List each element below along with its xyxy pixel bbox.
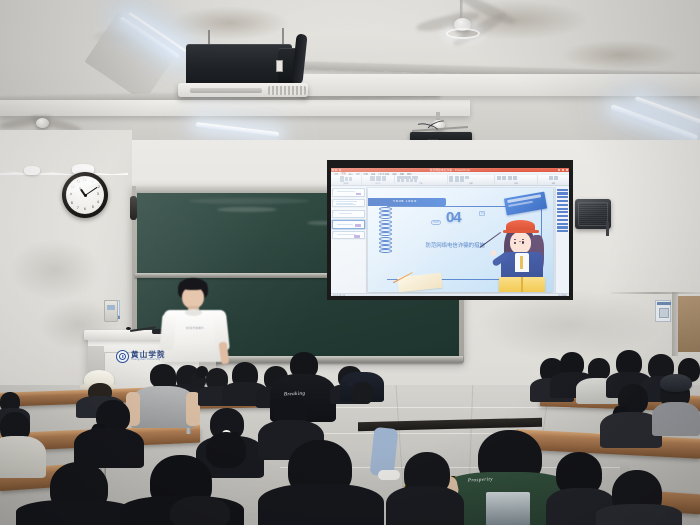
slide-thumbnail[interactable]: 3 — [332, 210, 364, 219]
slide-thumbnail-number: 2 — [333, 202, 334, 203]
audience-head — [206, 432, 246, 468]
ceiling-fan-right — [420, 0, 550, 60]
slide-thumbnail-number: 4 — [333, 223, 334, 224]
ribbon-caption-font: 字体 — [397, 183, 445, 185]
presenter-shirt-text: VICTORY — [174, 326, 216, 330]
ribbon-group-clipboard[interactable]: 剪贴板 — [331, 175, 362, 185]
fluorescent-tube-light-right — [610, 104, 699, 141]
wall-clock: 12 3 6 9 1 2 4 5 7 8 10 11 — [62, 172, 108, 218]
character-tie — [520, 256, 523, 269]
audience-head-grey-tank — [150, 364, 176, 388]
wall-outlet-box — [104, 300, 118, 322]
slide-section-number: 04 — [446, 209, 461, 226]
ribbon-group-font[interactable]: 字体 — [395, 175, 447, 185]
slide-thumbnail-number: 5 — [333, 234, 334, 235]
audience-tee-photo-print — [486, 492, 530, 525]
ribbon-group-slides[interactable]: 幻灯片 — [362, 175, 395, 185]
ribbon-group-paragraph[interactable]: 段落 — [448, 175, 496, 185]
audience-shoulders — [596, 504, 682, 525]
ribbon-caption-clipboard: 剪贴板 — [333, 183, 360, 185]
slide-thumbnail-number: 1 — [333, 191, 334, 192]
slide-part-badge: PART — [431, 220, 441, 225]
maximize-icon[interactable] — [562, 169, 564, 171]
slide-thumbnail[interactable]: 2 — [332, 199, 364, 208]
ac-duct-pipe — [291, 34, 307, 85]
character-open-book — [499, 277, 546, 292]
ppt-slide-stage[interactable]: YOUR LOGO PART 04 04 防范网络电信诈骗的措施 — [367, 187, 555, 293]
ceiling-ac-cassette — [178, 38, 313, 110]
character-eye-right — [522, 241, 524, 244]
classroom-photo: SONY 12 3 6 9 1 2 4 5 7 8 10 — [0, 0, 700, 525]
slide-logo-text: YOUR LOGO — [393, 200, 417, 203]
character-mouth — [519, 241, 522, 242]
ppt-quick-access-toolbar[interactable] — [332, 169, 341, 171]
audience-head — [352, 382, 374, 404]
slide-spiral-binding — [379, 202, 392, 279]
ribbon-caption-paragraph: 段落 — [449, 183, 492, 185]
audience-navy-tee-print: · — [350, 382, 351, 386]
ppt-ribbon[interactable]: 剪贴板 幻灯片 字体 — [331, 175, 569, 186]
projection-screen: 防范网络电信诈骗 - PowerPoint 文件 开始 插入 设计 切换 动画 … — [331, 168, 569, 296]
audience-light-shirt — [0, 436, 46, 478]
ppt-status-left: 幻灯片 第 4 张 — [333, 294, 345, 297]
audience-head — [588, 358, 610, 380]
slide-thumbnail[interactable]: 1 — [332, 188, 364, 197]
fluorescent-tube-light-mid — [195, 122, 279, 137]
slide-thumbnail[interactable]: 5 — [332, 231, 364, 240]
wall-outlet-label — [107, 305, 115, 310]
slide-teacher-illustration — [494, 217, 550, 292]
current-slide[interactable]: YOUR LOGO PART 04 04 防范网络电信诈骗的措施 — [368, 188, 553, 292]
ribbon-caption-editing: 编辑 — [540, 183, 568, 185]
minimize-icon[interactable] — [558, 169, 560, 171]
slide-section-number-superscript: 04 — [479, 211, 485, 216]
presenter: VICTORY — [160, 278, 240, 368]
slide-thumbnail-number: 3 — [333, 213, 334, 214]
undo-icon[interactable] — [335, 169, 337, 171]
fan-light-ring — [446, 28, 480, 39]
audience-shoulders — [16, 500, 136, 525]
ppt-window-buttons[interactable] — [558, 169, 568, 171]
audience-shoulders — [386, 486, 464, 525]
character-face — [510, 232, 531, 254]
ppt-right-pane[interactable] — [555, 187, 569, 293]
audience-shoulders — [652, 402, 700, 436]
ribbon-caption-slides: 幻灯片 — [364, 183, 393, 185]
wall-notice-right — [655, 300, 671, 322]
ppt-status-bar: 幻灯片 第 4 张 中文(简体) — [331, 293, 569, 296]
ppt-status-right: 中文(简体) — [558, 294, 567, 297]
close-icon[interactable] — [566, 169, 568, 171]
podium-university-logo: 黄山学院 Huangshan University — [116, 350, 166, 363]
character-hat-brim — [503, 230, 539, 233]
door-panel — [678, 296, 700, 352]
character-hand — [491, 250, 496, 256]
audience-shoulders — [258, 484, 384, 525]
character-eye-left — [514, 242, 516, 245]
audience-dark-cap — [660, 374, 692, 392]
audience-sneaker — [378, 470, 400, 480]
audience-head — [170, 496, 230, 525]
microphone-head — [126, 327, 131, 330]
ribbon-group-editing[interactable]: 编辑 — [538, 175, 569, 185]
university-seal-icon — [116, 350, 129, 363]
ppt-slide-thumbnail-pane[interactable]: 1 2 3 4 5 — [331, 187, 367, 293]
ribbon-caption-drawing: 绘图 — [497, 183, 536, 185]
slide-thumbnail-selected[interactable]: 4 — [332, 220, 364, 229]
blackboard-clip — [130, 196, 137, 220]
presenter-collar — [185, 309, 202, 316]
save-icon[interactable] — [332, 169, 334, 171]
ribbon-group-drawing[interactable]: 绘图 — [495, 175, 538, 185]
presenter-fringe — [179, 279, 207, 290]
